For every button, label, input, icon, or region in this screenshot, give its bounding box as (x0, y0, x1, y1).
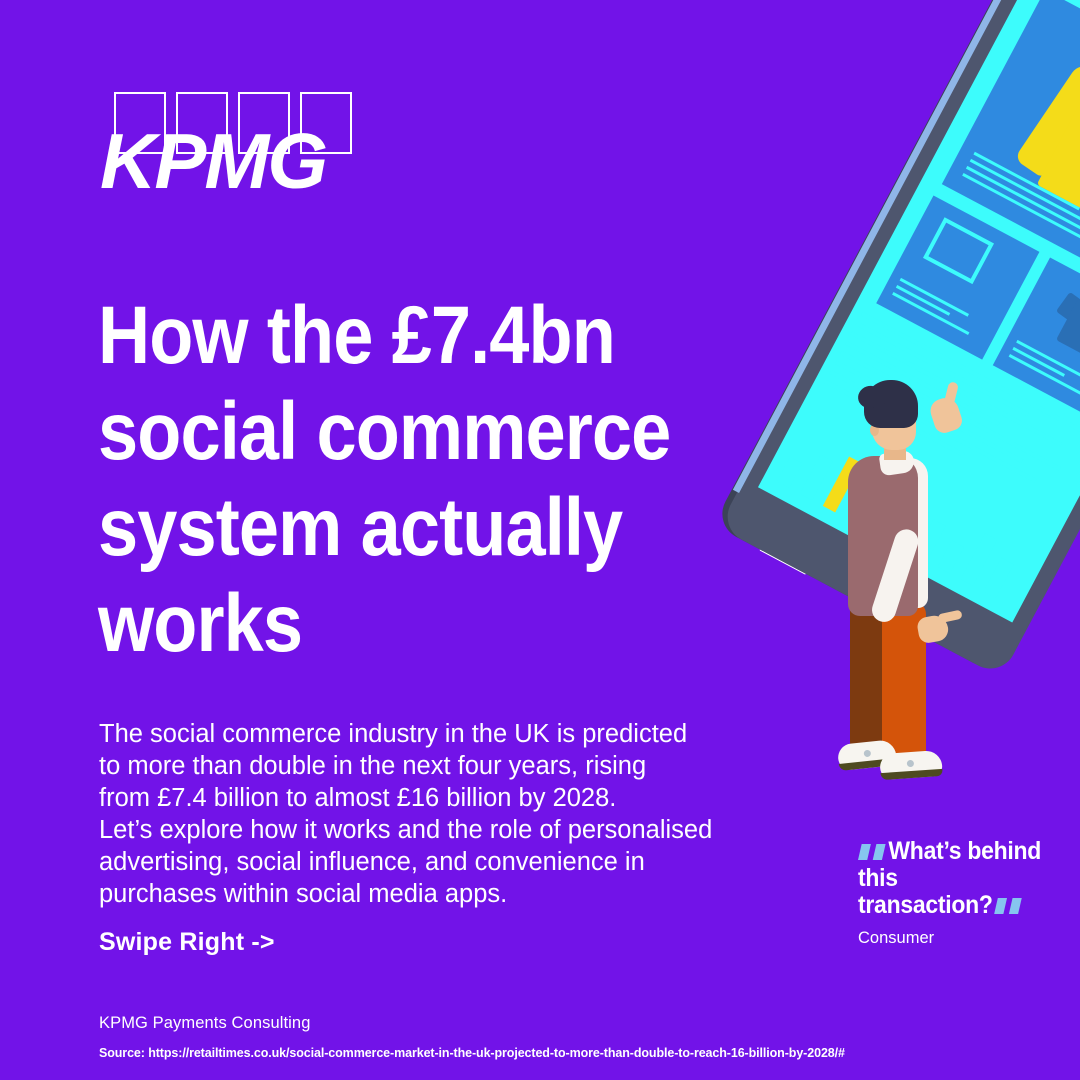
shoe-detail (863, 749, 871, 757)
person-finger-down (937, 610, 962, 624)
headline-line-3: system actually (98, 480, 714, 576)
quote-attribution: Consumer (858, 929, 1073, 948)
quote-line-1: What’s behind this (858, 837, 1041, 892)
person-figure (828, 380, 968, 780)
poster-canvas: KPMG How the £7.4bn social commerce syst… (0, 0, 1080, 1080)
shoe-detail (907, 760, 914, 767)
body-line-4: Let’s explore how it works and the role … (99, 814, 759, 846)
kpmg-logo-wordmark: KPMG (100, 122, 326, 200)
footer-brand-line: KPMG Payments Consulting (99, 1014, 311, 1033)
quote-open-icon-2 (873, 844, 886, 860)
headline-line-2: social commerce (98, 384, 714, 480)
quote-line-2: transaction? (858, 891, 993, 919)
illustration (770, 0, 1080, 800)
body-line-5: advertising, social influence, and conve… (99, 846, 759, 878)
quote-close-icon (995, 898, 1008, 914)
body-line-6: purchases within social media apps. (99, 878, 759, 910)
swipe-right-cta[interactable]: Swipe Right -> (99, 928, 275, 957)
body-line-3: from £7.4 billion to almost £16 billion … (99, 782, 759, 814)
page-title: How the £7.4bn social commerce system ac… (98, 288, 714, 672)
headline-line-4: works (98, 576, 714, 672)
footer-source-line: Source: https://retailtimes.co.uk/social… (99, 1046, 845, 1060)
person-shoe-right (879, 750, 943, 780)
body-line-2: to more than double in the next four yea… (99, 750, 759, 782)
card-line (900, 278, 969, 317)
shoe-sole (880, 769, 942, 780)
quote-text: What’s behind this transaction? (858, 838, 1056, 919)
bar-chart-bar (777, 457, 803, 488)
quote-close-icon-2 (1009, 898, 1022, 914)
quote-block: What’s behind this transaction? Consumer (858, 838, 1073, 948)
headline-line-1: How the £7.4bn (98, 288, 714, 384)
tshirt-icon (1045, 285, 1080, 363)
image-placeholder-icon (923, 217, 994, 284)
bar-chart-bar (984, 558, 1014, 598)
card-line (892, 292, 970, 335)
quote-open-icon (858, 844, 871, 860)
kpmg-logo: KPMG (100, 92, 360, 192)
body-line-1: The social commerce industry in the UK i… (99, 718, 759, 750)
card-line (1009, 354, 1080, 399)
body-paragraph: The social commerce industry in the UK i… (99, 718, 759, 910)
